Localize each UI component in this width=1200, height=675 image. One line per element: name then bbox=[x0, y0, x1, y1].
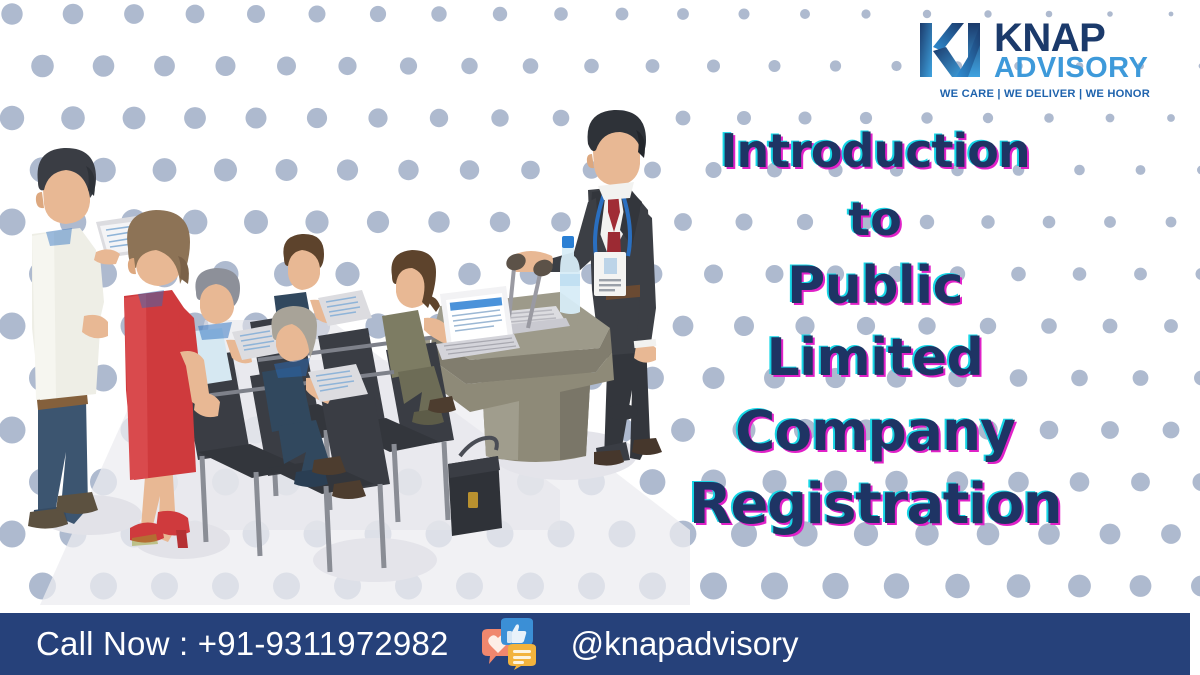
social-reactions-icon bbox=[479, 618, 537, 670]
headline: Introduction to Public Limited Company R… bbox=[665, 128, 1085, 533]
headline-line-3: Public bbox=[665, 260, 1085, 312]
headline-line-4: Limited bbox=[665, 332, 1085, 384]
headline-line-6: Registration bbox=[665, 477, 1085, 533]
knap-ka-monogram-icon bbox=[918, 17, 990, 83]
logo-tagline: WE CARE | WE DELIVER | WE HONOR bbox=[918, 88, 1150, 100]
logo-brand-secondary: ADVISORY bbox=[994, 54, 1148, 83]
knap-advisory-logo: KNAP ADVISORY WE CARE | WE DELIVER | WE … bbox=[918, 14, 1158, 110]
social-handle[interactable]: @knapadvisory bbox=[571, 625, 799, 663]
headline-line-5: Company bbox=[665, 404, 1085, 459]
headline-line-2: to bbox=[665, 196, 1085, 242]
contact-footer-bar: Call Now : +91-9311972982 @knapadvisory bbox=[0, 613, 1190, 675]
headline-line-1: Introduction bbox=[665, 128, 1085, 174]
conference-illustration bbox=[0, 60, 690, 605]
promo-poster: KNAP ADVISORY WE CARE | WE DELIVER | WE … bbox=[0, 0, 1200, 675]
phone-label[interactable]: Call Now : +91-9311972982 bbox=[36, 625, 449, 663]
